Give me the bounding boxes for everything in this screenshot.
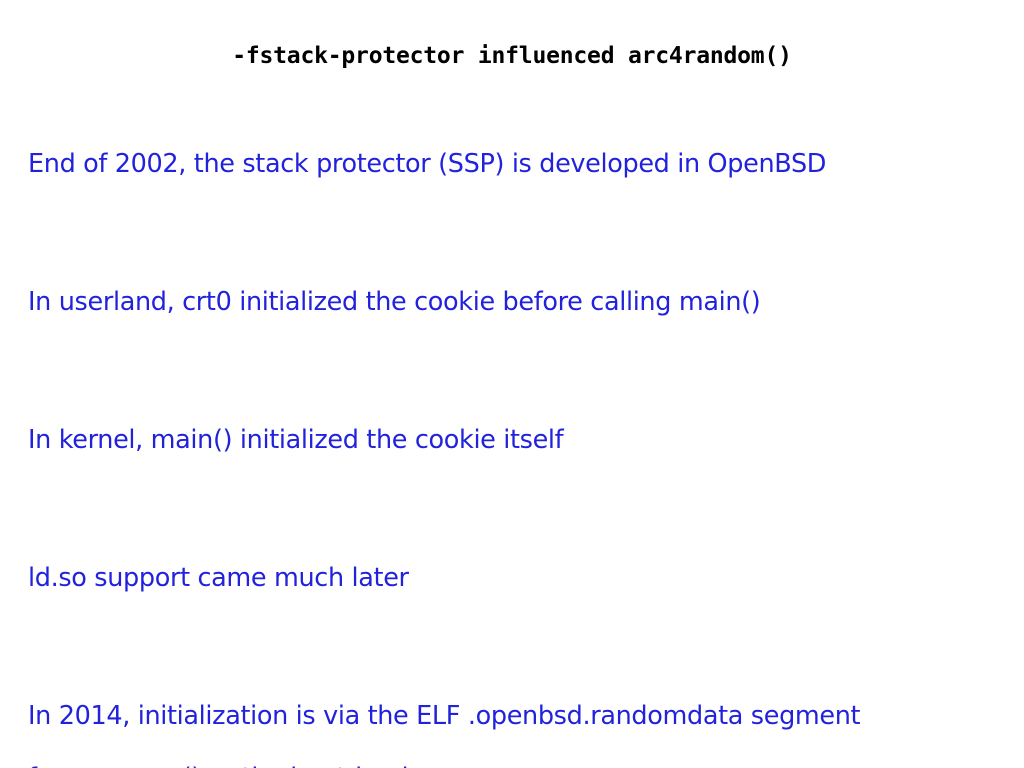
- paragraph-line: ld.so support came much later: [28, 563, 994, 594]
- slide-paragraph-ldso-support: ld.so support came much later: [28, 532, 994, 625]
- slide-paragraph-ssp-developed: End of 2002, the stack protector (SSP) i…: [28, 118, 994, 211]
- slide-paragraph-kernel-main: In kernel, main() initialized the cookie…: [28, 394, 994, 487]
- slide-title: -fstack-protector influenced arc4random(…: [0, 43, 1024, 71]
- slide-body: End of 2002, the stack protector (SSP) i…: [28, 118, 994, 768]
- paragraph-line: from execve() or the boot-loader: [28, 763, 994, 768]
- paragraph-line: End of 2002, the stack protector (SSP) i…: [28, 149, 994, 180]
- presentation-slide: -fstack-protector influenced arc4random(…: [0, 0, 1024, 768]
- slide-paragraph-userland-crt0: In userland, crt0 initialized the cookie…: [28, 256, 994, 349]
- paragraph-line: In userland, crt0 initialized the cookie…: [28, 287, 994, 318]
- paragraph-line: In 2014, initialization is via the ELF .…: [28, 701, 994, 732]
- paragraph-line: In kernel, main() initialized the cookie…: [28, 425, 994, 456]
- slide-paragraph-elf-randomdata: In 2014, initialization is via the ELF .…: [28, 670, 994, 768]
